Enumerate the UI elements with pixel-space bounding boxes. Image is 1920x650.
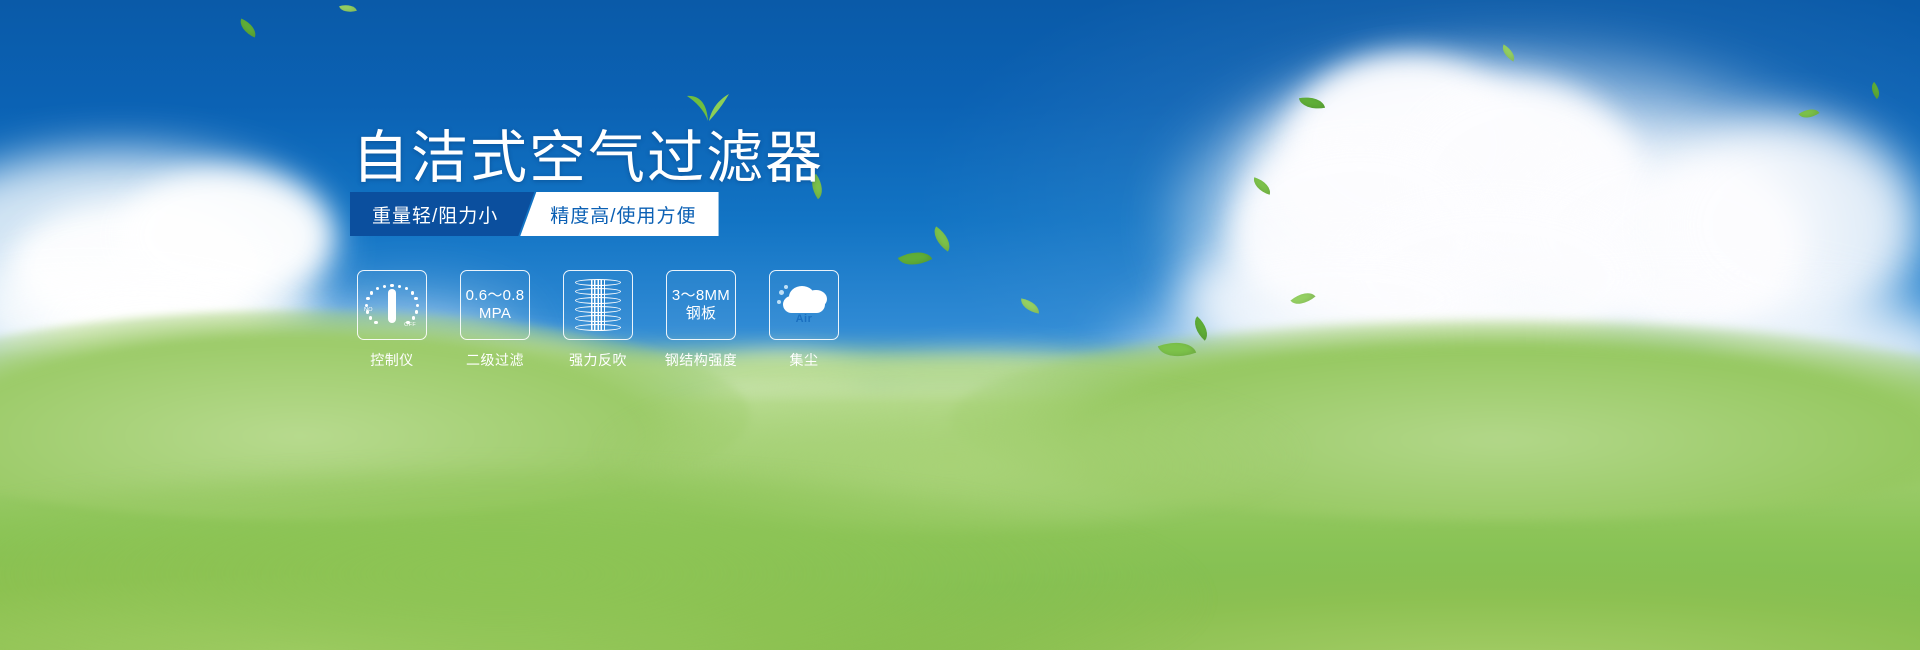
feature-item-backblow[interactable]: 强力反吹 [562, 270, 634, 370]
feature-box: 3～8MM 钢板 [666, 270, 736, 340]
product-hero-banner: 自洁式空气过滤器 重量轻/阻力小 精度高/使用方便 NO OFF [0, 0, 1920, 650]
feature-list: NO OFF [356, 270, 840, 370]
tab-precision-convenience[interactable]: 精度高/使用方便 [520, 192, 718, 236]
gauge-dial-icon: NO OFF [364, 280, 420, 330]
banner-content: 自洁式空气过滤器 重量轻/阻力小 精度高/使用方便 NO OFF [0, 0, 1920, 650]
steel-value-line2: 钢板 [686, 305, 717, 323]
feature-item-secondary-filtration[interactable]: 0.6～0.8 MPA 二级过滤 [459, 270, 531, 370]
feature-caption: 二级过滤 [466, 350, 524, 370]
feature-caption: 集尘 [790, 350, 819, 370]
feature-box: Air [769, 270, 839, 340]
feature-box: 0.6～0.8 MPA [460, 270, 530, 340]
feature-caption: 控制仪 [370, 350, 414, 370]
feature-item-dust-collection[interactable]: Air 集尘 [768, 270, 840, 370]
pressure-value-line2: MPA [479, 305, 511, 323]
filter-coil-icon [575, 279, 621, 331]
feature-item-steel-strength[interactable]: 3～8MM 钢板 钢结构强度 [665, 270, 737, 370]
air-cloud-dust-icon: Air [777, 284, 831, 326]
leaf-icon [686, 92, 730, 122]
subtitle-tabs: 重量轻/阻力小 精度高/使用方便 [350, 192, 719, 236]
pressure-value-line1: 0.6～0.8 [466, 287, 525, 305]
feature-box: NO OFF [357, 270, 427, 340]
feature-item-controller[interactable]: NO OFF [356, 270, 428, 370]
steel-value-line1: 3～8MM [672, 287, 730, 305]
feature-caption: 强力反吹 [569, 350, 627, 370]
air-label: Air [777, 313, 831, 325]
feature-caption: 钢结构强度 [665, 350, 738, 370]
feature-box [563, 270, 633, 340]
page-title: 自洁式空气过滤器 [352, 112, 824, 194]
tab-weight-resistance[interactable]: 重量轻/阻力小 [350, 192, 534, 236]
